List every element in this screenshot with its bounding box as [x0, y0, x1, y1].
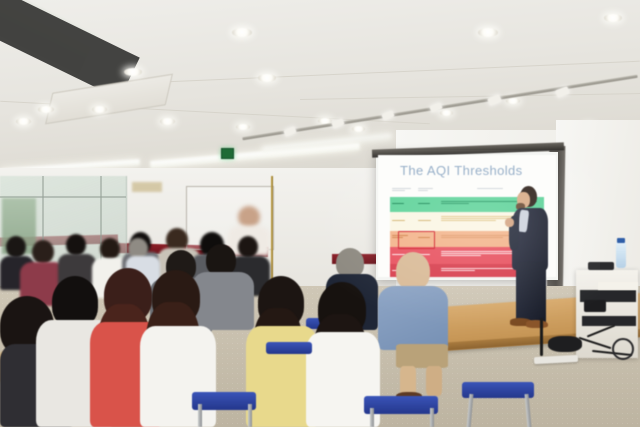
downlight — [440, 110, 453, 116]
downlight — [352, 126, 365, 132]
av-equipment — [588, 262, 614, 270]
slide-title: The AQI Thresholds — [400, 163, 523, 178]
water-bottle-cap — [617, 238, 625, 243]
audience-body — [140, 326, 216, 427]
presenter-hand — [505, 218, 514, 227]
water-bottle — [616, 242, 626, 268]
downlight — [236, 124, 250, 130]
equipment-bag — [548, 336, 582, 352]
audience-body — [378, 286, 448, 350]
downlight — [92, 106, 107, 113]
slide-highlight-box — [398, 231, 436, 249]
audience-head — [66, 234, 86, 256]
chair-leg — [248, 404, 252, 427]
presenter-trousers — [516, 262, 546, 324]
table-header-cell — [416, 186, 439, 197]
cable-loop — [612, 338, 634, 360]
audience-leg — [426, 366, 442, 396]
audience-head — [100, 238, 120, 260]
audience-head — [32, 240, 54, 264]
downlight — [506, 98, 520, 104]
audience-head — [238, 236, 258, 258]
photo-scene: The AQI Thresholds — [0, 0, 640, 427]
wall-sign — [132, 182, 162, 192]
downlight — [124, 68, 142, 76]
distant-person-head — [238, 206, 260, 228]
av-equipment — [584, 300, 606, 312]
downlight — [160, 118, 175, 125]
downlight — [16, 118, 31, 125]
exit-sign — [221, 148, 234, 159]
chair-leg — [430, 408, 434, 427]
chair-leg — [370, 408, 374, 427]
downlight — [232, 28, 252, 37]
av-cart-shelf — [582, 316, 636, 326]
audience-body — [192, 272, 254, 330]
chair-leg — [198, 404, 202, 427]
audience-shorts — [396, 344, 448, 368]
av-cart-papers — [598, 282, 638, 290]
presenter-shoe — [526, 320, 548, 328]
downlight — [478, 28, 498, 37]
flag-pole — [271, 176, 273, 288]
audience-head — [396, 252, 430, 290]
chair-seat — [364, 396, 438, 414]
cable — [540, 318, 543, 356]
downlight — [38, 106, 54, 113]
table-header-cell — [390, 186, 416, 197]
audience-head — [6, 236, 26, 258]
downlight — [604, 14, 622, 22]
downlight — [258, 74, 276, 82]
chair-seat — [266, 342, 312, 354]
